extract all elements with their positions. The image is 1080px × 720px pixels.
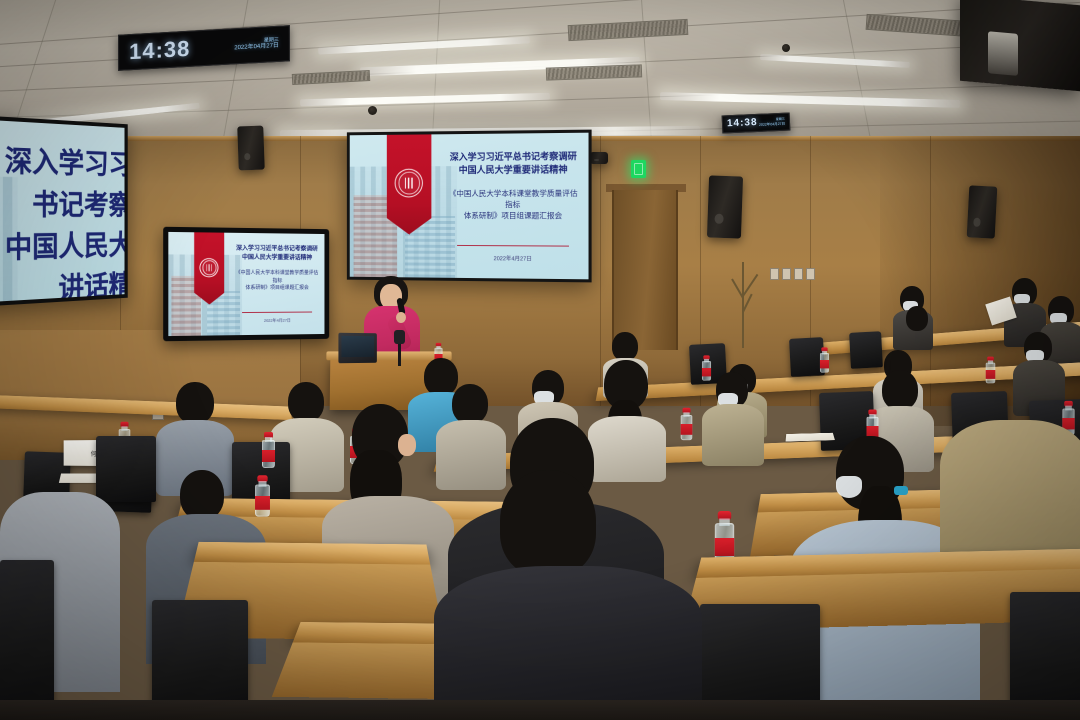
slide-divider — [242, 311, 313, 313]
slide-text-block: 深入学习习近平总书记考察调研 中国人民大学重要讲话精神 《中国人民大学本科课堂教… — [0, 142, 128, 312]
chair[interactable] — [96, 436, 156, 502]
ceiling-smoke-detector — [368, 106, 377, 115]
wall-speaker-icon — [237, 126, 265, 171]
water-bottle — [681, 408, 693, 440]
ceiling-vent — [568, 19, 689, 41]
slide-text-block: 深入学习习近平总书记考察调研 中国人民大学重要讲话精神 《中国人民大学本科课堂教… — [448, 150, 579, 222]
slide-divider — [457, 245, 568, 247]
slide-date: 2022年4月27日 — [448, 253, 579, 262]
microphone-head-icon — [394, 330, 405, 344]
ceiling-vent — [546, 64, 642, 80]
ceiling-light-fixture — [318, 36, 530, 54]
wall-speaker-icon — [707, 175, 743, 238]
water-bottle — [702, 355, 711, 380]
clock-time: 14:38 — [727, 118, 758, 129]
ceiling-vent — [292, 70, 370, 85]
clock-date: 2022年04月27日 — [759, 121, 785, 127]
slide-red-banner — [387, 133, 432, 235]
slide-title: 深入学习习近平总书记考察调研 中国人民大学重要讲话精神 — [0, 142, 128, 312]
desk-row-front — [194, 542, 430, 565]
lecture-hall-scene: 14:38 星期三 2022年04月27日 14:38 星期三 2022年04月… — [0, 0, 1080, 720]
exit-sign-icon — [631, 160, 646, 178]
clock-time: 14:38 — [129, 38, 190, 63]
slide-text-block: 深入学习习近平总书记考察调研 中国人民大学重要讲话精神 《中国人民大学本科课堂教… — [235, 245, 318, 292]
slide-title: 深入学习习近平总书记考察调研 中国人民大学重要讲话精神 — [448, 150, 579, 177]
renmin-university-emblem — [200, 258, 219, 277]
wall-switch[interactable] — [782, 268, 791, 280]
slide-content: 深入学习习近平总书记考察调研 中国人民大学重要讲话精神 《中国人民大学本科课堂教… — [350, 133, 589, 280]
water-bottle — [262, 432, 275, 468]
wall-speaker-icon — [967, 185, 998, 238]
exit-door[interactable] — [612, 190, 678, 350]
security-camera-icon — [590, 152, 608, 164]
hair-tie — [894, 486, 908, 495]
water-bottle — [255, 475, 270, 516]
slide-title: 深入学习习近平总书记考察调研 中国人民大学重要讲话精神 — [235, 245, 318, 263]
clock-date: 2022年04月27日 — [234, 43, 279, 53]
slide-red-banner — [194, 232, 224, 305]
ceiling-projector-icon — [960, 0, 1080, 91]
document-paper — [786, 433, 835, 442]
chair[interactable] — [849, 331, 883, 369]
ceiling-light-fixture — [760, 54, 910, 68]
water-bottle — [820, 347, 829, 372]
water-bottle — [986, 357, 996, 384]
presenter-laptop[interactable] — [338, 333, 376, 364]
ceiling-light-fixture — [660, 92, 960, 108]
wall-switch[interactable] — [794, 268, 803, 280]
ceiling-smoke-detector — [782, 44, 790, 52]
slide-date: 2022年4月27日 — [235, 317, 318, 324]
confidence-monitor: 深入学习习近平总书记考察调研 中国人民大学重要讲话精神 《中国人民大学本科课堂教… — [163, 227, 329, 342]
digital-clock-display-secondary: 14:38 星期三 2022年04月27日 — [722, 113, 791, 134]
wall-switch[interactable] — [806, 268, 815, 280]
slide-content: 深入学习习近平总书记考察调研 中国人民大学重要讲话精神 《中国人民大学本科课堂教… — [168, 232, 324, 336]
projection-screen-left: 深入学习习近平总书记考察调研 中国人民大学重要讲话精神 《中国人民大学本科课堂教… — [0, 111, 128, 312]
floor-shadow — [0, 700, 1080, 720]
wall-switch[interactable] — [770, 268, 779, 280]
projection-screen-main: 深入学习习近平总书记考察调研 中国人民大学重要讲话精神 《中国人民大学本科课堂教… — [347, 130, 592, 283]
chair[interactable] — [0, 560, 54, 720]
slide-content: 深入学习习近平总书记考察调研 中国人民大学重要讲话精神 《中国人民大学本科课堂教… — [0, 111, 128, 312]
decorative-branch — [742, 262, 744, 348]
slide-subtitle: 《中国人民大学本科课堂教学质量评估指标 体系研制》项目组课题汇报会 — [235, 270, 318, 292]
renmin-university-emblem — [395, 169, 424, 198]
slide-subtitle: 《中国人民大学本科课堂教学质量评估指标 体系研制》项目组课题汇报会 — [448, 189, 579, 222]
